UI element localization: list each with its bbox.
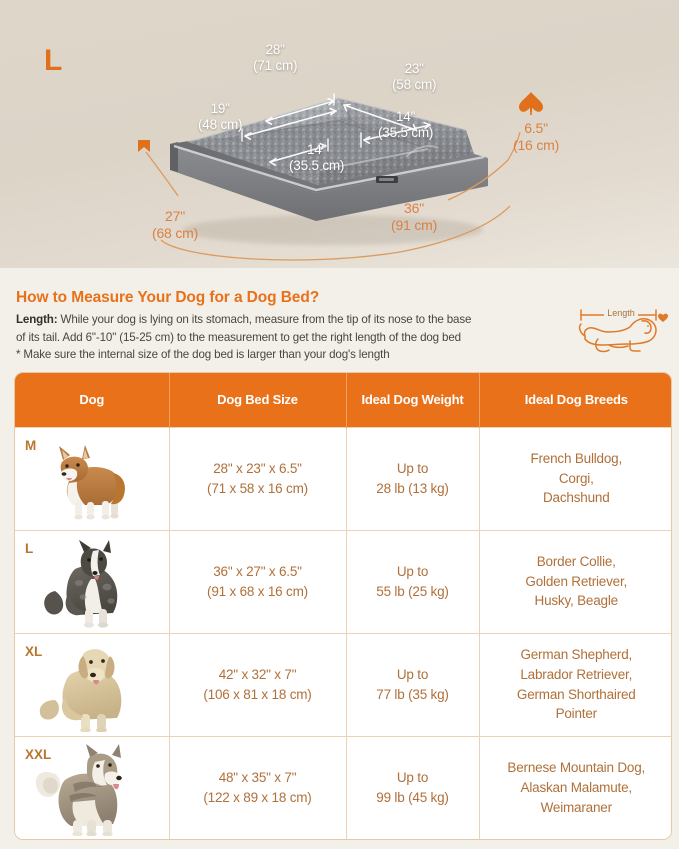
dim-inch: 36" <box>404 200 424 216</box>
bed-size-cell: 28" x 23" x 6.5" (71 x 58 x 16 cm) <box>169 427 346 530</box>
weight-value: 99 lb (45 kg) <box>350 788 476 808</box>
bed-size-inches: 48" x 35" x 7" <box>173 768 343 788</box>
column-header-breeds: Ideal Dog Breeds <box>479 373 672 427</box>
dim-metric: (35.5 cm) <box>289 158 344 174</box>
marker-pin-right <box>519 92 543 112</box>
dim-inch: 27" <box>165 208 185 224</box>
breed-line: German Shorthaired <box>483 685 671 705</box>
instruction-line-3: * Make sure the internal size of the dog… <box>16 346 564 364</box>
instruction-lead: Length: <box>16 313 57 326</box>
dim-metric: (68 cm) <box>152 225 198 242</box>
breed-line: French Bulldog, <box>483 449 671 469</box>
length-label: Length <box>607 308 635 318</box>
table-row: XXL <box>15 736 672 839</box>
bed-size-inches: 28" x 23" x 6.5" <box>173 459 343 479</box>
hero-product-section: L <box>0 0 679 268</box>
weight-prefix: Up to <box>350 562 476 582</box>
size-chart-table: Dog Dog Bed Size Ideal Dog Weight Ideal … <box>14 372 672 840</box>
weight-value: 77 lb (35 kg) <box>350 685 476 705</box>
breed-line: Corgi, <box>483 469 671 489</box>
dim-metric: (58 cm) <box>392 77 436 93</box>
breed-line: Border Collie, <box>483 552 671 572</box>
malamute-photo <box>15 737 169 840</box>
dimension-label-overall-width: 36" (91 cm) <box>391 200 437 234</box>
breed-line: Dachshund <box>483 488 671 508</box>
column-header-weight: Ideal Dog Weight <box>346 373 479 427</box>
dimension-label-overall-height: 6.5" (16 cm) <box>513 120 559 154</box>
breed-line: German Shepherd, <box>483 645 671 665</box>
bed-size-cm: (71 x 58 x 16 cm) <box>173 479 343 499</box>
dog-cell: L <box>15 530 169 633</box>
breed-line: Golden Retriever, <box>483 572 671 592</box>
weight-prefix: Up to <box>350 459 476 479</box>
weight-cell: Up to 99 lb (45 kg) <box>346 736 479 839</box>
dimension-label-inner-depth: 14" (35.5 cm) <box>289 142 344 174</box>
dim-metric: (71 cm) <box>253 58 297 74</box>
dog-cell: XXL <box>15 736 169 839</box>
dim-metric: (48 cm) <box>198 117 242 133</box>
table-row: XL <box>15 633 672 736</box>
measure-instructions: Length: While your dog is lying on its s… <box>16 311 564 364</box>
weight-cell: Up to 55 lb (25 kg) <box>346 530 479 633</box>
breeds-cell: Border Collie, Golden Retriever, Husky, … <box>479 530 672 633</box>
breeds-cell: German Shepherd, Labrador Retriever, Ger… <box>479 633 672 736</box>
weight-value: 28 lb (13 kg) <box>350 479 476 499</box>
breed-line: Alaskan Malamute, <box>483 778 671 798</box>
weight-prefix: Up to <box>350 665 476 685</box>
dim-metric: (35.5 cm) <box>378 125 433 141</box>
bed-size-inches: 42" x 32" x 7" <box>173 665 343 685</box>
dimension-label-bolster-depth: 14" (35.5 cm) <box>378 109 433 141</box>
breed-line: Labrador Retriever, <box>483 665 671 685</box>
table-row: M <box>15 427 672 530</box>
weight-prefix: Up to <box>350 768 476 788</box>
weight-value: 55 lb (25 kg) <box>350 582 476 602</box>
bed-size-cm: (106 x 81 x 18 cm) <box>173 685 343 705</box>
dim-metric: (16 cm) <box>513 137 559 154</box>
weight-cell: Up to 77 lb (35 kg) <box>346 633 479 736</box>
border-collie-photo <box>15 531 169 633</box>
weight-cell: Up to 28 lb (13 kg) <box>346 427 479 530</box>
dim-inch: 19" <box>211 101 230 116</box>
dim-inch: 28" <box>266 42 285 57</box>
breeds-cell: Bernese Mountain Dog, Alaskan Malamute, … <box>479 736 672 839</box>
bed-size-cell: 42" x 32" x 7" (106 x 81 x 18 cm) <box>169 633 346 736</box>
breed-line: Pointer <box>483 704 671 724</box>
dim-metric: (91 cm) <box>391 217 437 234</box>
instruction-line-2: of its tail. Add 6"-10" (15-25 cm) to th… <box>16 329 564 347</box>
instruction-line-1: Length: While your dog is lying on its s… <box>16 311 564 329</box>
breeds-cell: French Bulldog, Corgi, Dachshund <box>479 427 672 530</box>
instruction-line-1-text: While your dog is lying on its stomach, … <box>57 313 471 326</box>
dog-cell: M <box>15 427 169 530</box>
table-header-row: Dog Dog Bed Size Ideal Dog Weight Ideal … <box>15 373 672 427</box>
column-header-bed-size: Dog Bed Size <box>169 373 346 427</box>
infographic-page: L <box>0 0 679 849</box>
dog-length-diagram-icon: Length <box>576 296 674 358</box>
dimension-label-overall-depth: 27" (68 cm) <box>152 208 198 242</box>
dim-inch: 6.5" <box>524 120 548 136</box>
dim-inch: 14" <box>307 142 326 157</box>
breed-line: Weimaraner <box>483 798 671 818</box>
dog-cell: XL <box>15 633 169 736</box>
labrador-photo <box>15 634 169 736</box>
dimension-label-top-width: 28" (71 cm) <box>253 42 297 74</box>
size-badge: L <box>44 46 63 76</box>
bed-size-cell: 36" x 27" x 6.5" (91 x 68 x 16 cm) <box>169 530 346 633</box>
bed-size-cm: (91 x 68 x 16 cm) <box>173 582 343 602</box>
dimension-label-inner-width: 19" (48 cm) <box>198 101 242 133</box>
dim-inch: 23" <box>405 61 424 76</box>
dim-inch: 14" <box>396 109 415 124</box>
breed-line: Bernese Mountain Dog, <box>483 758 671 778</box>
breed-line: Husky, Beagle <box>483 591 671 611</box>
bed-size-cm: (122 x 89 x 18 cm) <box>173 788 343 808</box>
corgi-photo <box>15 428 169 530</box>
section-title: How to Measure Your Dog for a Dog Bed? <box>16 289 319 307</box>
table-row: L <box>15 530 672 633</box>
dimension-label-top-depth: 23" (58 cm) <box>392 61 436 93</box>
column-header-dog: Dog <box>15 373 169 427</box>
bed-size-cell: 48" x 35" x 7" (122 x 89 x 18 cm) <box>169 736 346 839</box>
bed-size-inches: 36" x 27" x 6.5" <box>173 562 343 582</box>
